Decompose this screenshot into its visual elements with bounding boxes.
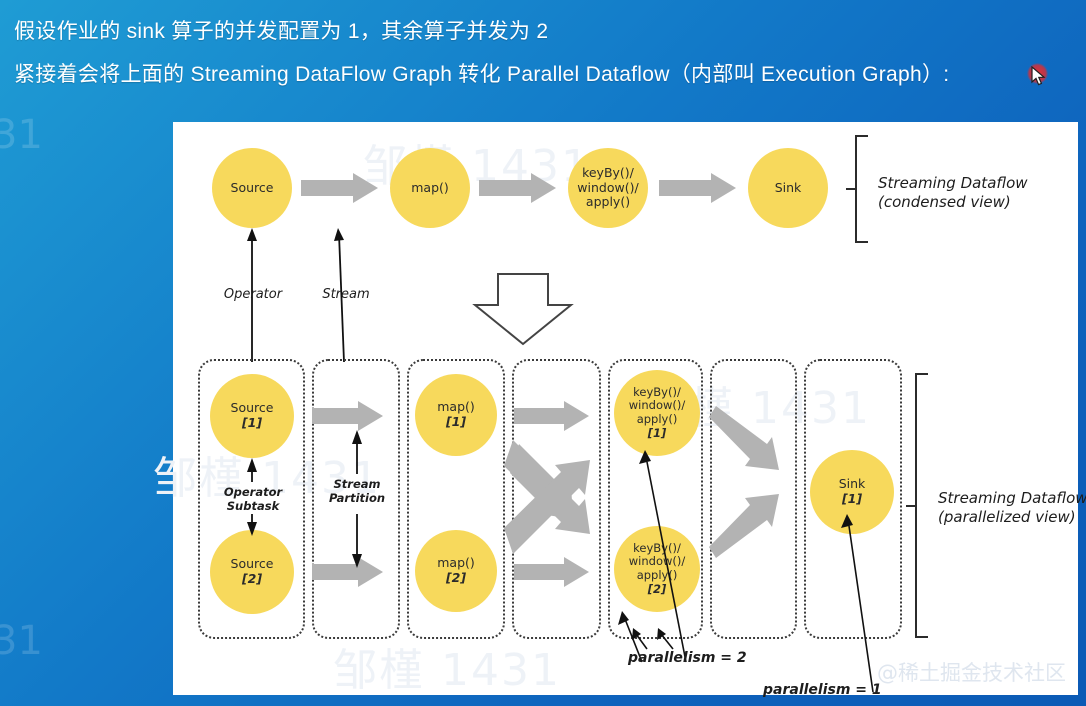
group-box-stream-partition-2	[512, 359, 601, 639]
node-label-line2: window()/	[629, 399, 685, 413]
node-label: map()	[411, 181, 449, 196]
gray-arrow-icon	[301, 173, 736, 203]
node-label-line3: apply()	[586, 195, 630, 210]
node-map-2[interactable]: map() [2]	[415, 530, 497, 612]
community-watermark: @稀土掘金技术社区	[877, 657, 1066, 687]
node-source-1[interactable]: Source [1]	[210, 374, 294, 458]
node-label: Source	[231, 181, 274, 196]
caption-condensed-line2: (condensed view)	[878, 193, 1028, 212]
node-label-line3: apply()	[637, 413, 678, 427]
node-map-1[interactable]: map() [1]	[415, 374, 497, 456]
node-label-line1: keyBy()/	[633, 386, 681, 400]
node-label: Sink	[775, 181, 802, 196]
caption-condensed: Streaming Dataflow (condensed view)	[878, 174, 1028, 212]
label-operator-subtask: Operator Subtask	[209, 485, 297, 514]
label-parallelism-1: parallelism = 1	[763, 682, 882, 700]
node-index: [2]	[446, 571, 466, 586]
card-watermark-bottom: 邹槿 1431	[333, 634, 561, 698]
background-watermark-top: 31	[0, 112, 43, 158]
node-sink-condensed[interactable]: Sink	[748, 148, 828, 228]
node-label: map()	[437, 400, 475, 415]
node-keyby-2[interactable]: keyBy()/ window()/ apply() [2]	[614, 526, 700, 612]
bracket-condensed	[846, 136, 868, 242]
node-label-line1: keyBy()/	[633, 542, 681, 556]
node-index: [1]	[648, 427, 667, 441]
header-line-1: 假设作业的 sink 算子的并发配置为 1，其余算子并发为 2	[14, 15, 548, 45]
group-box-stream-partition-3	[710, 359, 797, 639]
caption-parallelized: Streaming Dataflow (parallelized view)	[938, 489, 1086, 527]
mouse-cursor-icon	[1031, 66, 1047, 88]
diagram-card: 邹槿 1431 邹槿 1431 邹槿 1431 邹槿 1431 Source m…	[173, 122, 1078, 695]
node-label-line1: keyBy()/	[582, 166, 634, 181]
label-stream-partition: Stream Partition	[313, 477, 401, 506]
label-stream-partition-line2: Partition	[313, 491, 401, 505]
label-stream-partition-line1: Stream	[313, 477, 401, 491]
label-operator: Operator	[210, 287, 296, 303]
annotation-arrowheads	[247, 228, 344, 241]
node-label-line2: window()/	[629, 555, 685, 569]
node-index: [1]	[842, 492, 862, 507]
node-index: [2]	[242, 572, 262, 587]
node-index: [1]	[242, 416, 262, 431]
label-operator-subtask-line1: Operator	[209, 485, 297, 499]
background-watermark-bottom: 31	[0, 618, 43, 664]
node-label: Source	[231, 401, 274, 416]
node-keyby-1[interactable]: keyBy()/ window()/ apply() [1]	[614, 370, 700, 456]
caption-condensed-line1: Streaming Dataflow	[878, 174, 1028, 193]
node-source-condensed[interactable]: Source	[212, 148, 292, 228]
caption-parallelized-line1: Streaming Dataflow	[938, 489, 1086, 508]
node-label-line3: apply()	[637, 569, 678, 583]
node-label: Sink	[839, 477, 866, 492]
node-label: Source	[231, 557, 274, 572]
node-label: map()	[437, 556, 475, 571]
label-parallelism-2: parallelism = 2	[628, 650, 747, 668]
node-source-2[interactable]: Source [2]	[210, 530, 294, 614]
label-stream: Stream	[303, 287, 389, 303]
node-sink-1[interactable]: Sink [1]	[810, 450, 894, 534]
label-operator-subtask-line2: Subtask	[209, 499, 297, 513]
bracket-parallelized	[906, 374, 928, 637]
slide-root: 假设作业的 sink 算子的并发配置为 1，其余算子并发为 2 紧接着会将上面的…	[0, 0, 1086, 706]
node-map-condensed[interactable]: map()	[390, 148, 470, 228]
node-keyby-condensed[interactable]: keyBy()/ window()/ apply()	[568, 148, 648, 228]
transform-down-arrow-icon	[475, 274, 571, 344]
node-index: [2]	[648, 583, 667, 597]
node-index: [1]	[446, 415, 466, 430]
header-line-2: 紧接着会将上面的 Streaming DataFlow Graph 转化 Par…	[14, 58, 949, 88]
caption-parallelized-line2: (parallelized view)	[938, 508, 1086, 527]
node-label-line2: window()/	[577, 181, 638, 196]
